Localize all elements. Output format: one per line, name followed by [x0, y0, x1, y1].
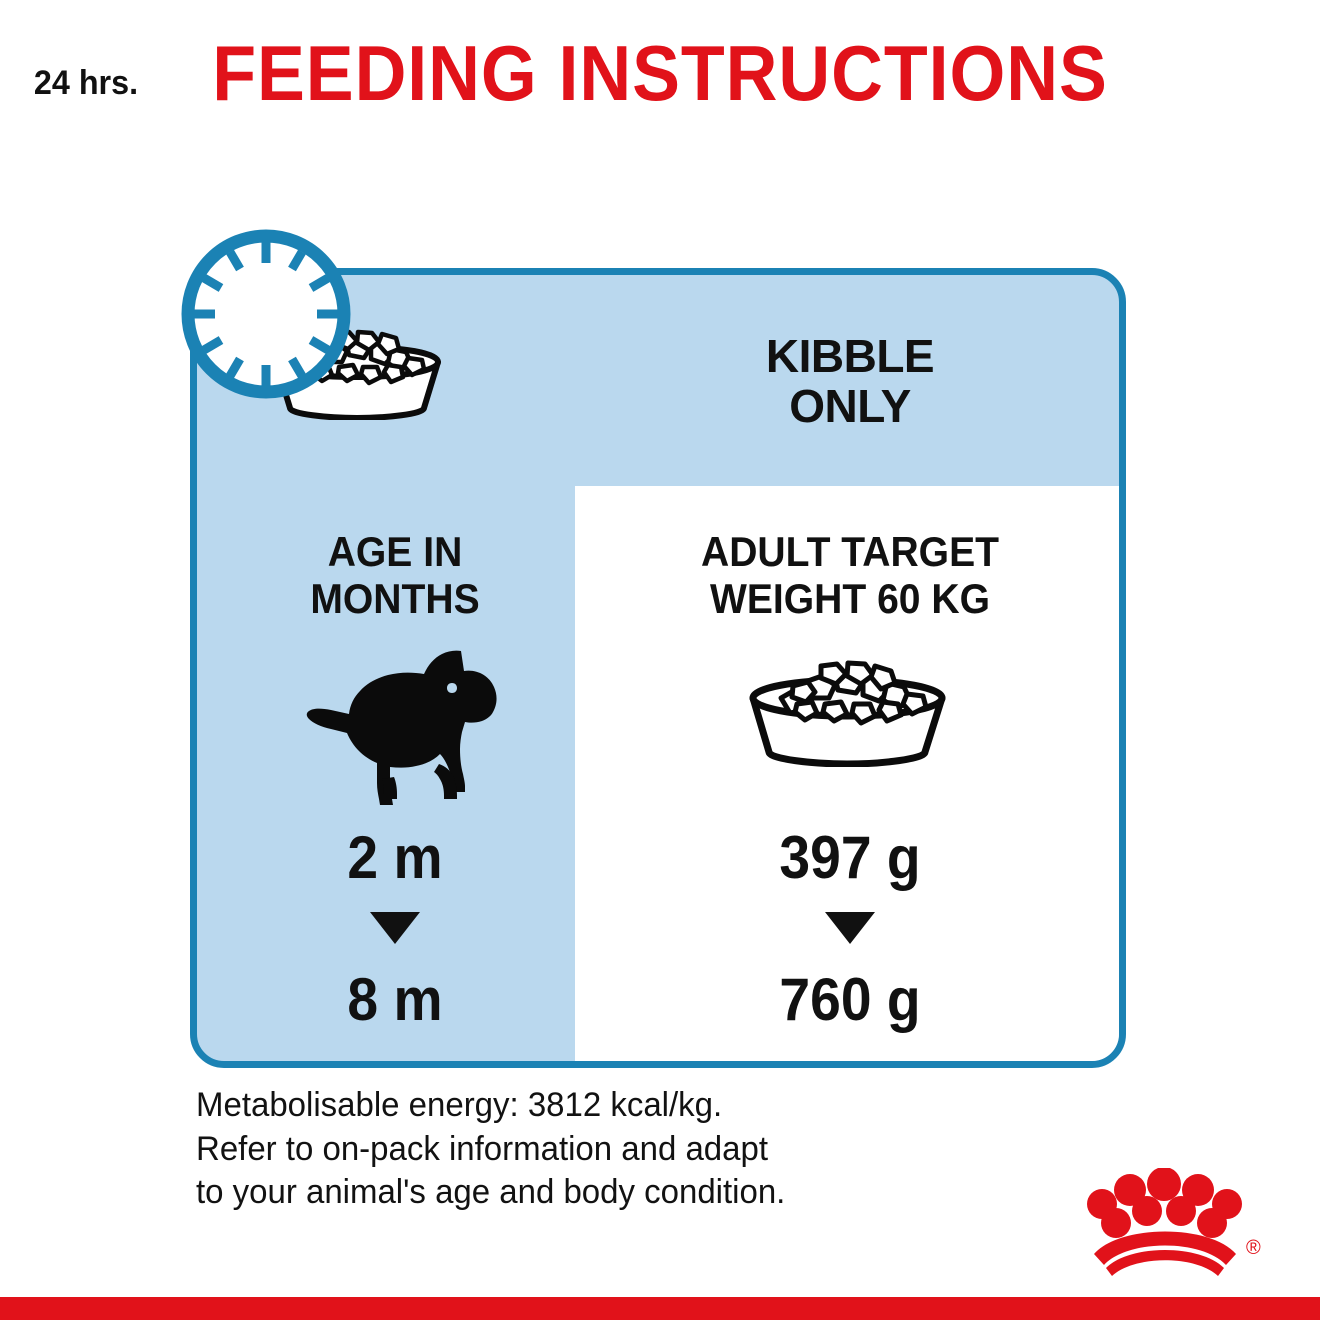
kibble-only-header: KIBBLE ONLY	[570, 332, 1130, 431]
weight-range-from: 397 g	[592, 828, 1107, 888]
registered-mark: ®	[1246, 1237, 1261, 1259]
kibble-only-line-1: KIBBLE	[570, 332, 1130, 382]
down-triangle-icon	[370, 912, 420, 944]
puppy-silhouette-icon	[296, 645, 506, 805]
age-range-from: 2 m	[229, 828, 560, 888]
kibble-only-line-2: ONLY	[570, 382, 1130, 432]
age-range-to: 8 m	[229, 970, 560, 1030]
footnote-text: Metabolisable energy: 3812 kcal/kg. Refe…	[196, 1084, 933, 1215]
page-title: FEEDING INSTRUCTIONS	[53, 34, 1267, 112]
weight-range-to: 760 g	[592, 970, 1107, 1030]
down-triangle-icon	[825, 912, 875, 944]
column-header-weight: ADULT TARGET WEIGHT 60 KG	[590, 528, 1111, 622]
royal-canin-crown-logo: ®	[1086, 1168, 1276, 1280]
column-header-weight-line-2: WEIGHT 60 KG	[590, 575, 1111, 622]
column-header-age-line-1: AGE IN	[228, 528, 563, 575]
column-header-age-line-2: MONTHS	[228, 575, 563, 622]
column-header-weight-line-1: ADULT TARGET	[590, 528, 1111, 575]
clock-icon	[180, 228, 352, 400]
column-header-age: AGE IN MONTHS	[228, 528, 563, 622]
food-bowl-icon	[735, 652, 960, 767]
bottom-red-bar	[0, 1297, 1320, 1320]
